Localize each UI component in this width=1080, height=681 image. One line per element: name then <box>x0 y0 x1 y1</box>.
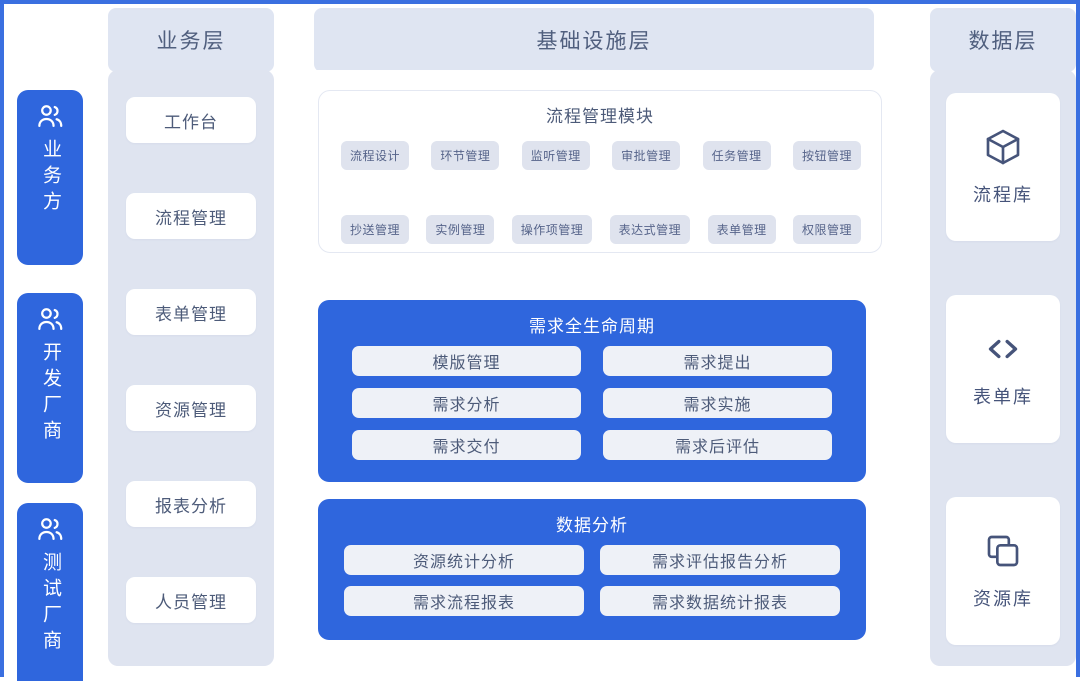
process-module-title: 流程管理模块 <box>319 102 881 127</box>
business-layer-header: 业务层 <box>108 8 274 72</box>
lifecycle-item-analysis[interactable]: 需求分析 <box>352 388 581 418</box>
copy-stack-icon <box>983 531 1023 571</box>
process-tag-flow-design[interactable]: 流程设计 <box>341 141 409 170</box>
data-card-resource-library[interactable]: 资源库 <box>946 497 1060 645</box>
process-tag-approval-mgmt[interactable]: 审批管理 <box>612 141 680 170</box>
process-tag-instance-mgmt[interactable]: 实例管理 <box>426 215 494 244</box>
data-analysis-panel: 数据分析 资源统计分析 需求评估报告分析 需求流程报表 需求数据统计报表 <box>318 499 866 640</box>
cube-icon <box>983 127 1023 167</box>
data-card-label: 流程库 <box>973 181 1033 207</box>
process-management-module: 流程管理模块 流程设计 环节管理 监听管理 审批管理 任务管理 按钮管理 抄送管… <box>318 90 882 253</box>
lifecycle-item-post-eval[interactable]: 需求后评估 <box>603 430 832 460</box>
actor-rail: 业务方 开发厂商 测试厂商 <box>8 8 92 677</box>
process-tag-listener-mgmt[interactable]: 监听管理 <box>522 141 590 170</box>
business-item-process-mgmt[interactable]: 流程管理 <box>126 193 256 239</box>
process-tag-button-mgmt[interactable]: 按钮管理 <box>793 141 861 170</box>
actor-label: 开发厂商 <box>40 340 60 446</box>
analytics-grid: 资源统计分析 需求评估报告分析 需求流程报表 需求数据统计报表 <box>318 536 866 632</box>
users-icon <box>35 517 65 543</box>
business-item-workbench[interactable]: 工作台 <box>126 97 256 143</box>
architecture-diagram: 业务方 开发厂商 测试厂商 业务层 工作台 流程管理 表单管理 资 <box>0 0 1080 677</box>
data-layer-header: 数据层 <box>930 8 1076 72</box>
infrastructure-layer-header: 基础设施层 <box>314 8 874 72</box>
lifecycle-title: 需求全生命周期 <box>318 300 866 337</box>
process-tag-row-1: 流程设计 环节管理 监听管理 审批管理 任务管理 按钮管理 <box>341 141 861 170</box>
users-icon <box>35 307 65 333</box>
business-item-personnel[interactable]: 人员管理 <box>126 577 256 623</box>
data-card-label: 资源库 <box>973 585 1033 611</box>
business-item-report[interactable]: 报表分析 <box>126 481 256 527</box>
data-card-process-library[interactable]: 流程库 <box>946 93 1060 241</box>
process-tag-cc-mgmt[interactable]: 抄送管理 <box>341 215 409 244</box>
process-tag-form-mgmt[interactable]: 表单管理 <box>708 215 776 244</box>
business-item-resource-mgmt[interactable]: 资源管理 <box>126 385 256 431</box>
lifecycle-item-template[interactable]: 模版管理 <box>352 346 581 376</box>
process-tag-expression-mgmt[interactable]: 表达式管理 <box>610 215 691 244</box>
actor-card-business[interactable]: 业务方 <box>17 90 83 265</box>
analytics-item-eval-report[interactable]: 需求评估报告分析 <box>600 545 840 575</box>
data-card-label: 表单库 <box>973 383 1033 409</box>
data-card-form-library[interactable]: 表单库 <box>946 295 1060 443</box>
process-tag-operation-mgmt[interactable]: 操作项管理 <box>512 215 593 244</box>
lifecycle-item-proposal[interactable]: 需求提出 <box>603 346 832 376</box>
infrastructure-layer-panel: 流程管理模块 流程设计 环节管理 监听管理 审批管理 任务管理 按钮管理 抄送管… <box>288 70 900 666</box>
analytics-title: 数据分析 <box>318 499 866 536</box>
actor-label: 业务方 <box>40 137 60 217</box>
analytics-item-process-report[interactable]: 需求流程报表 <box>344 586 584 616</box>
process-tag-task-mgmt[interactable]: 任务管理 <box>703 141 771 170</box>
business-item-form-mgmt[interactable]: 表单管理 <box>126 289 256 335</box>
actor-label: 测试厂商 <box>40 550 60 656</box>
users-icon <box>35 104 65 130</box>
lifecycle-grid: 模版管理 需求提出 需求分析 需求实施 需求交付 需求后评估 <box>318 337 866 476</box>
process-tag-row-2: 抄送管理 实例管理 操作项管理 表达式管理 表单管理 权限管理 <box>341 215 861 244</box>
actor-card-dev-vendor[interactable]: 开发厂商 <box>17 293 83 483</box>
analytics-item-data-stats-report[interactable]: 需求数据统计报表 <box>600 586 840 616</box>
analytics-item-resource-stats[interactable]: 资源统计分析 <box>344 545 584 575</box>
code-brackets-icon <box>983 329 1023 369</box>
lifecycle-item-delivery[interactable]: 需求交付 <box>352 430 581 460</box>
data-layer-panel: 流程库 表单库 资源库 <box>930 70 1076 666</box>
process-tag-permission-mgmt[interactable]: 权限管理 <box>793 215 861 244</box>
requirement-lifecycle-panel: 需求全生命周期 模版管理 需求提出 需求分析 需求实施 需求交付 需求后评估 <box>318 300 866 482</box>
process-tag-node-mgmt[interactable]: 环节管理 <box>431 141 499 170</box>
actor-card-test-vendor[interactable]: 测试厂商 <box>17 503 83 681</box>
lifecycle-item-implement[interactable]: 需求实施 <box>603 388 832 418</box>
business-layer-panel: 工作台 流程管理 表单管理 资源管理 报表分析 人员管理 <box>108 70 274 666</box>
